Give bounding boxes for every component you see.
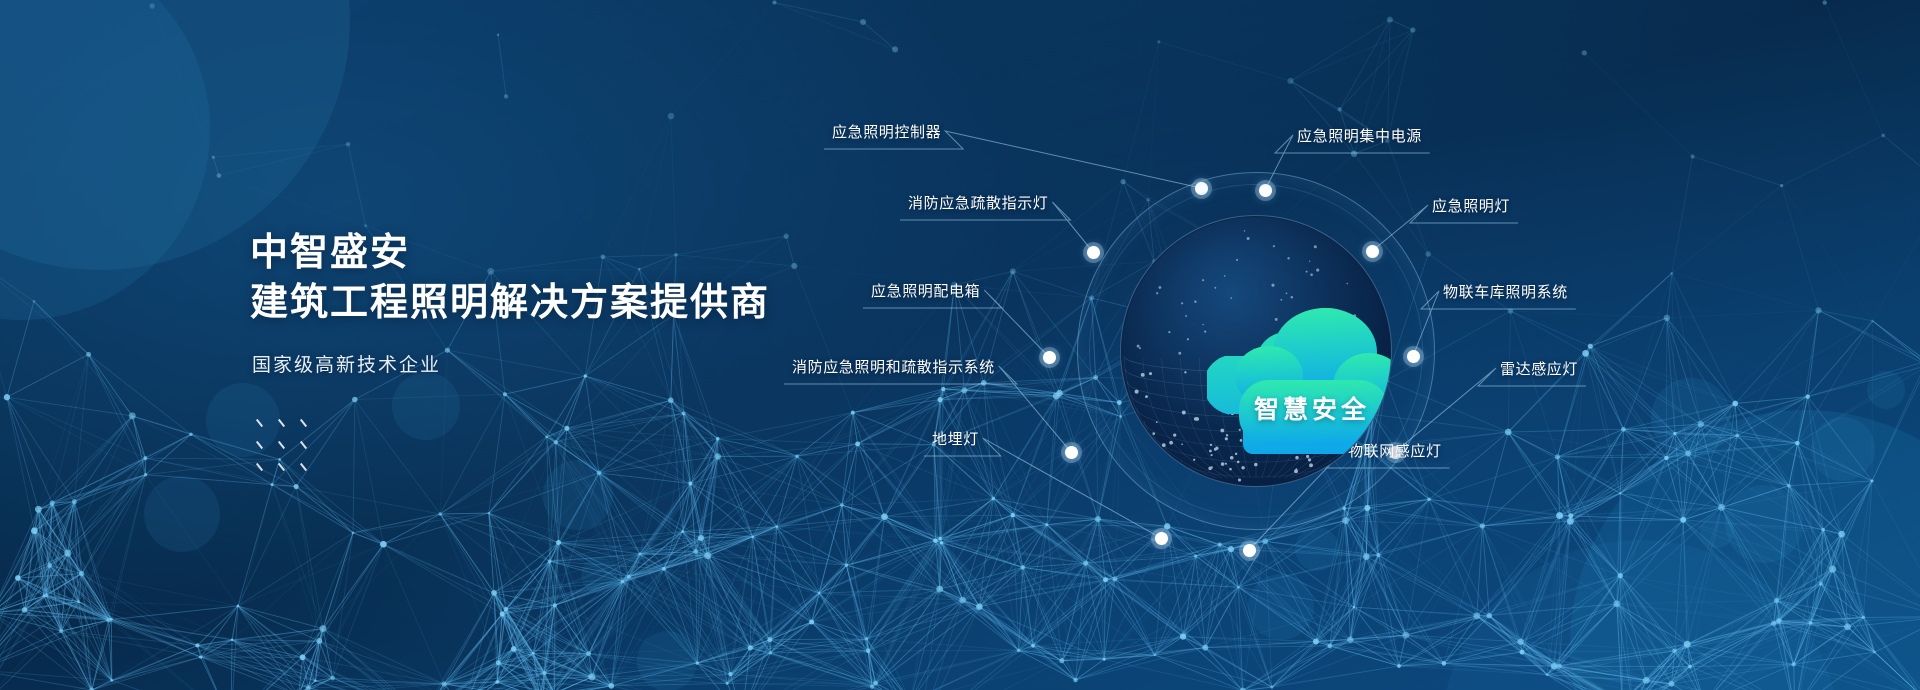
- node-dot-10[interactable]: [1243, 544, 1256, 557]
- decor-circle-bottom-right-small: [1440, 540, 1840, 690]
- title-line-1: 中智盛安: [250, 228, 770, 278]
- title-line-2: 建筑工程照明解决方案提供商: [250, 278, 770, 328]
- cloud-graphic: 智慧安全: [1207, 308, 1392, 473]
- central-hub: 智慧安全: [1065, 160, 1445, 540]
- node-label-5[interactable]: 应急照明配电箱: [871, 280, 980, 301]
- connector-lines: [0, 0, 1920, 690]
- decor-dash-grid: [255, 413, 321, 479]
- hero-banner: 中智盛安 建筑工程照明解决方案提供商 国家级高新技术企业 应急照明控制器应急照明…: [0, 0, 1920, 690]
- dash-mark: [277, 435, 299, 457]
- node-label-8[interactable]: 雷达感应灯: [1500, 358, 1578, 379]
- dash-mark: [277, 457, 299, 479]
- decor-circle-top-left-small: [0, 0, 210, 320]
- dash-mark: [255, 435, 277, 457]
- node-label-3[interactable]: 消防应急疏散指示灯: [908, 192, 1048, 213]
- dash-mark: [255, 457, 277, 479]
- dash-mark: [255, 413, 277, 435]
- node-label-9[interactable]: 地埋灯: [932, 428, 979, 449]
- node-label-7[interactable]: 消防应急照明和疏散指示系统: [792, 356, 995, 377]
- decor-circle-bottom-right-large: [1570, 410, 1920, 690]
- node-dot-5[interactable]: [1043, 351, 1056, 364]
- node-label-1[interactable]: 应急照明控制器: [832, 121, 941, 142]
- node-label-2[interactable]: 应急照明集中电源: [1297, 125, 1422, 146]
- hub-center-label: 智慧安全: [1207, 390, 1392, 426]
- page-subtitle: 国家级高新技术企业: [252, 350, 441, 377]
- dash-mark: [299, 435, 321, 457]
- dash-mark: [277, 413, 299, 435]
- dash-mark: [299, 413, 321, 435]
- node-label-6[interactable]: 物联车库照明系统: [1443, 281, 1568, 302]
- network-mesh-background: [0, 0, 1920, 690]
- page-title: 中智盛安 建筑工程照明解决方案提供商: [250, 228, 770, 328]
- dash-mark: [299, 457, 321, 479]
- hub-sphere: 智慧安全: [1120, 215, 1392, 487]
